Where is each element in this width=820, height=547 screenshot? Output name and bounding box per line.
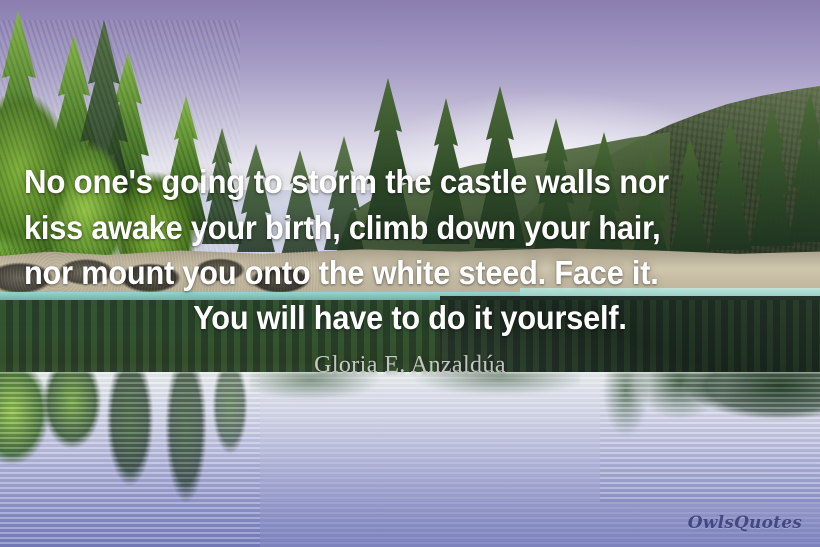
- quote-line-4: You will have to do it yourself.: [51, 295, 769, 340]
- text-overlay: No one's going to storm the castle walls…: [0, 0, 820, 547]
- quote-line-3: nor mount you onto the white steed. Face…: [24, 250, 742, 295]
- quote-line-1: No one's going to storm the castle walls…: [24, 160, 742, 205]
- quote-attribution: Gloria E. Anzaldúa: [0, 352, 820, 379]
- owlsquotes-watermark: OwlsQuotes: [688, 513, 802, 533]
- quote-image-card: No one's going to storm the castle walls…: [0, 0, 820, 547]
- quote-text-block: No one's going to storm the castle walls…: [0, 160, 820, 340]
- quote-line-2: kiss awake your birth, climb down your h…: [24, 205, 742, 250]
